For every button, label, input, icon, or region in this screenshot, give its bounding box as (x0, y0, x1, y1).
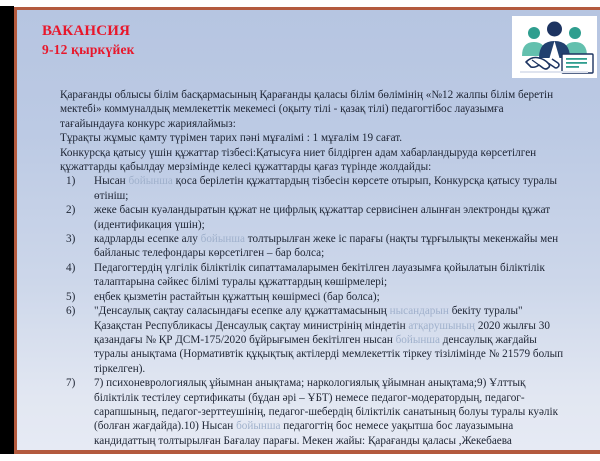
list-item-line: біліктілік тестілеу сертификаты (бұдан ә… (94, 391, 600, 405)
list-item-number: 4) (66, 261, 90, 275)
announcement-body: Қарағанды облысы білім басқармасының Қар… (60, 88, 600, 454)
list-item-line: 7) психоневрологиялық ұйымнан анықтама; … (94, 376, 600, 390)
list-item: 2) жеке басын куәландыратын құжат не циф… (60, 203, 600, 232)
list-item: 7) 7) психоневрологиялық ұйымнан анықтам… (60, 376, 600, 454)
list-item: 5) еңбек қызметін растайтын құжаттың көш… (60, 290, 600, 304)
list-item-line: кадрларды есепке алу бойынша толтырылған… (94, 232, 600, 246)
left-black-gutter (0, 6, 14, 461)
list-item-text: Педагогтердің үлгілік біліктілік сипатта… (94, 261, 600, 290)
list-item-line: тіркелген). (94, 362, 600, 376)
list-item-line: байланыс телефондары көрсетілген – бар б… (94, 246, 600, 260)
intro-line: Конкурсқа қатысу үшін құжаттар тізбесі:Қ… (60, 146, 600, 160)
presentation-slide: ВАКАНСИЯ 9-12 қыркүйек (14, 7, 600, 454)
list-item-text: жеке басын куәландыратын құжат не цифрлы… (94, 203, 600, 232)
list-item-text: еңбек қызметін растайтын құжаттың көшірм… (94, 290, 600, 304)
page-title: ВАКАНСИЯ (42, 22, 135, 40)
intro-line: Тұрақты жұмыс қамту түрімен тарих пәні м… (60, 131, 600, 145)
top-white-margin (0, 0, 600, 7)
list-item-number: 6) (66, 304, 90, 318)
list-item-line: еңбек қызметін растайтын құжаттың көшірм… (94, 290, 600, 304)
slide-frame: ВАКАНСИЯ 9-12 қыркүйек (0, 0, 600, 461)
intro-line: мектебі» коммуналдық мемлекеттік мекемес… (60, 102, 600, 116)
intro-line: тағайындауға конкурс жариялаймыз: (60, 117, 600, 131)
list-item-line: қазандағы № ҚР ДСМ-175/2020 бұйрығымен б… (94, 333, 600, 347)
list-item-line: кандидаттың толтырылған Бағалау парағы. … (94, 434, 600, 448)
list-item-number: 5) (66, 290, 90, 304)
list-item-line: Нысан бойынша қоса берілетін құжаттардың… (94, 174, 600, 188)
list-item: 4) Педагогтердің үлгілік біліктілік сипа… (60, 261, 600, 290)
list-item: 1) Нысан бойынша қоса берілетін құжаттар… (60, 174, 600, 203)
document-requirements-list: 1) Нысан бойынша қоса берілетін құжаттар… (60, 174, 600, 454)
intro-line: Қарағанды облысы білім басқармасының Қар… (60, 88, 600, 102)
bottom-white-margin (0, 454, 600, 461)
list-item-line: талаптарына сәйкес білімі туралы құжатта… (94, 275, 600, 289)
title-block: ВАКАНСИЯ 9-12 қыркүйек (42, 22, 135, 59)
list-item-line: өтініш; (94, 189, 600, 203)
list-item-line: Қазақстан Республикасы Денсаулық сақтау … (94, 319, 600, 333)
slide-header: ВАКАНСИЯ 9-12 қыркүйек (20, 13, 600, 75)
list-item-line: (болған жағдайда).10) Нысан бойынша педа… (94, 419, 600, 433)
list-item: 3) кадрларды есепке алу бойынша толтырыл… (60, 232, 600, 261)
list-item-number: 1) (66, 174, 90, 188)
list-item-text: "Денсаулық сақтау саласындағы есепке алу… (94, 304, 600, 376)
list-item-line: жеке басын куәландыратын құжат не цифрлы… (94, 203, 600, 217)
handshake-meeting-logo (512, 16, 597, 78)
list-item-text: кадрларды есепке алу бойынша толтырылған… (94, 232, 600, 261)
list-item-line: (идентификация үшін); (94, 218, 600, 232)
list-item-number: 7) (66, 376, 90, 390)
list-item-line: туралы анықтама (Нормативтік құқықтық ак… (94, 347, 600, 361)
list-item-number: 2) (66, 203, 90, 217)
list-item-number: 3) (66, 232, 90, 246)
list-item-text: 7) психоневрологиялық ұйымнан анықтама; … (94, 376, 600, 454)
list-item-line: "Денсаулық сақтау саласындағы есепке алу… (94, 304, 600, 318)
page-subtitle: 9-12 қыркүйек (42, 41, 135, 59)
slide-inner: ВАКАНСИЯ 9-12 қыркүйек (20, 13, 600, 451)
intro-line: құжаттарды қабылдау мерзімінде келесі құ… (60, 160, 600, 174)
list-item: 6) "Денсаулық сақтау саласындағы есепке … (60, 304, 600, 376)
list-item-line: Педагогтердің үлгілік біліктілік сипатта… (94, 261, 600, 275)
list-item-text: Нысан бойынша қоса берілетін құжаттардың… (94, 174, 600, 203)
list-item-line: сарапшының, педагог-зерттеушінің, педаго… (94, 405, 600, 419)
